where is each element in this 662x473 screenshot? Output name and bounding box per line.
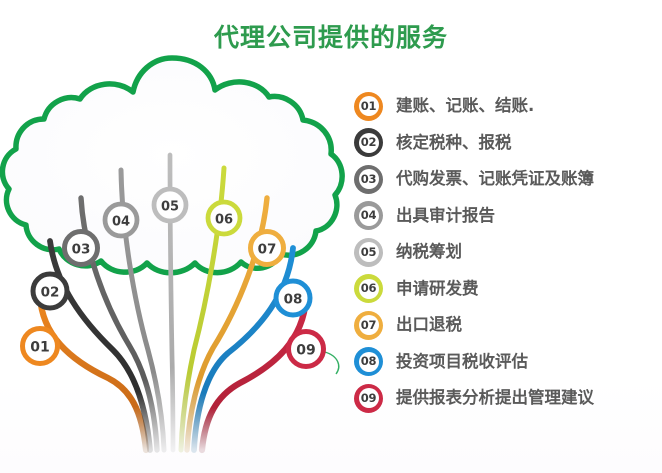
legend-badge-06: 06 <box>355 275 382 302</box>
tree-node-02[interactable]: 02 <box>33 274 67 308</box>
legend-item-08[interactable]: 08 投资项目税收评估 <box>350 344 662 381</box>
svg-text:01: 01 <box>30 340 49 356</box>
tree-node-08[interactable]: 08 <box>276 281 310 315</box>
legend-item-07[interactable]: 07 出口退税 <box>350 307 662 344</box>
legend-badge-08: 08 <box>355 348 382 375</box>
svg-text:09: 09 <box>296 343 315 359</box>
legend-item-04[interactable]: 04 出具审计报告 <box>350 198 662 235</box>
tree-node-05[interactable]: 05 <box>154 189 186 221</box>
legend-item-09[interactable]: 09 提供报表分析提出管理建议 <box>350 380 662 417</box>
infographic-canvas: 代理公司提供的服务 <box>0 0 662 473</box>
legend-list: 01 建账、记账、结账. 02 核定税种、报税 03 代购发票、记账凭证及账簿 <box>350 88 662 417</box>
tree-node-01[interactable]: 01 <box>23 329 58 364</box>
legend-number-09: 09 <box>361 393 376 405</box>
legend-number-02: 02 <box>361 137 376 149</box>
legend-number-05: 05 <box>361 247 376 259</box>
legend-badge-04: 04 <box>355 202 382 229</box>
legend-label-02: 核定税种、报税 <box>396 133 512 153</box>
tree-graphic: 01 02 03 04 05 06 <box>0 50 345 465</box>
legend-label-07: 出口退税 <box>396 315 462 335</box>
legend-label-01: 建账、记账、结账. <box>396 96 534 116</box>
tree-node-09[interactable]: 09 <box>289 332 324 367</box>
legend-label-09: 提供报表分析提出管理建议 <box>396 388 594 408</box>
tree-node-06[interactable]: 06 <box>208 202 240 234</box>
legend-item-01[interactable]: 01 建账、记账、结账. <box>350 88 662 125</box>
svg-text:02: 02 <box>41 285 60 301</box>
legend-item-02[interactable]: 02 核定税种、报税 <box>350 125 662 162</box>
svg-text:06: 06 <box>215 213 233 228</box>
legend-label-06: 申请研发费 <box>396 279 479 299</box>
legend-label-03: 代购发票、记账凭证及账簿 <box>396 169 594 189</box>
legend-item-05[interactable]: 05 纳税筹划 <box>350 234 662 271</box>
svg-text:05: 05 <box>161 200 179 215</box>
legend-number-06: 06 <box>361 283 376 295</box>
legend-label-08: 投资项目税收评估 <box>396 352 528 372</box>
legend-item-06[interactable]: 06 申请研发费 <box>350 271 662 308</box>
legend-badge-09: 09 <box>355 385 382 412</box>
legend-item-03[interactable]: 03 代购发票、记账凭证及账簿 <box>350 161 662 198</box>
legend-badge-03: 03 <box>355 166 382 193</box>
svg-text:04: 04 <box>112 215 130 230</box>
stem-09 <box>202 299 306 450</box>
tree-node-03[interactable]: 03 <box>65 232 98 265</box>
legend-number-08: 08 <box>361 356 376 368</box>
legend-number-04: 04 <box>361 210 376 222</box>
legend-badge-02: 02 <box>355 129 382 156</box>
tendril-decor <box>325 352 339 374</box>
svg-text:03: 03 <box>72 242 91 258</box>
tree-node-07[interactable]: 07 <box>251 232 284 265</box>
legend-number-01: 01 <box>361 101 376 113</box>
legend-badge-07: 07 <box>355 312 382 339</box>
tree-node-04[interactable]: 04 <box>105 204 137 236</box>
legend-badge-05: 05 <box>355 239 382 266</box>
svg-text:08: 08 <box>284 292 303 308</box>
legend-badge-01: 01 <box>355 93 382 120</box>
legend-label-05: 纳税筹划 <box>396 242 462 262</box>
svg-text:07: 07 <box>258 242 277 258</box>
legend-number-03: 03 <box>361 174 376 186</box>
legend-label-04: 出具审计报告 <box>396 206 495 226</box>
legend-number-07: 07 <box>361 320 376 332</box>
